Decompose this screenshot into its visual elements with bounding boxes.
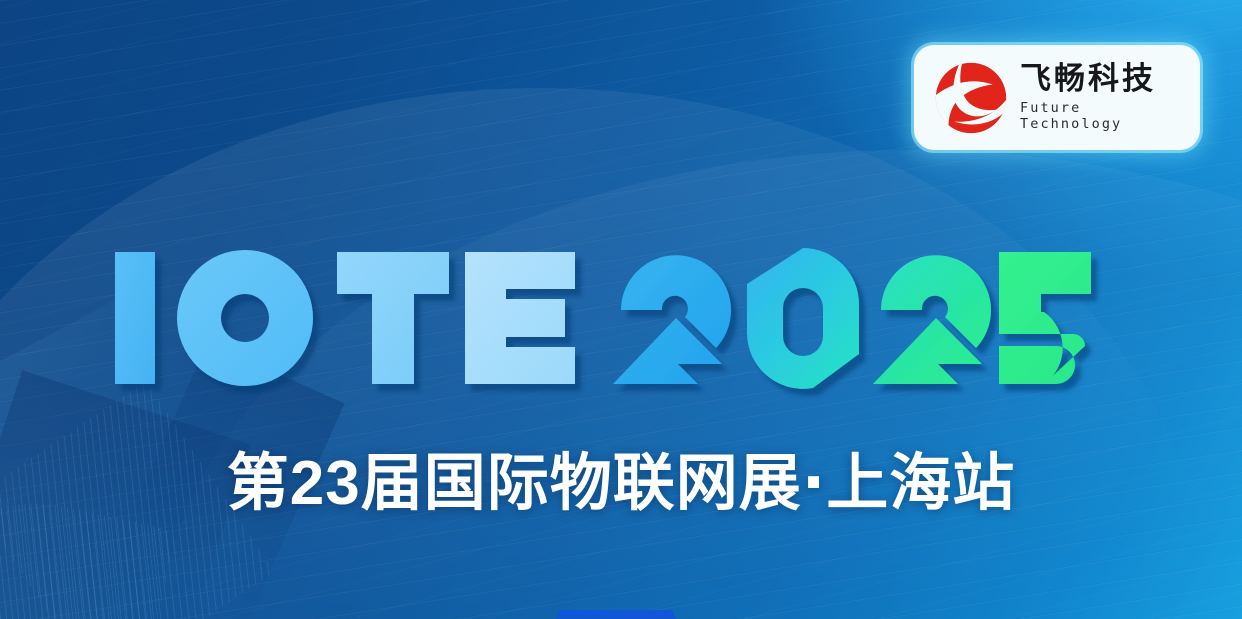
headline-prefix: 第: [227, 446, 290, 519]
iote-2025-wordmark-svg: [113, 236, 1093, 401]
sponsor-name-en: Future Technology: [1020, 100, 1186, 132]
event-headline: 第23届国际物联网展·上海站: [0, 452, 1242, 515]
bottom-accent-chip: [556, 610, 676, 619]
wordmark-digit-0: [747, 248, 859, 389]
feichang-swoosh-mark-icon: [928, 56, 1014, 140]
sponsor-name-cn: 飞畅科技: [1020, 63, 1186, 96]
wordmark-letter-E: [465, 252, 575, 384]
wordmark-digit-2b: [873, 255, 991, 384]
iote-2025-wordmark: [113, 236, 1093, 401]
wordmark-letter-T: [337, 252, 449, 384]
sponsor-logo-text: 飞畅科技 Future Technology: [1020, 63, 1186, 133]
wordmark-digit-2a: [613, 255, 731, 384]
headline-suffix: 届国际物联网展·上海站: [361, 446, 1016, 519]
wordmark-digit-5: [999, 252, 1091, 384]
wordmark-letter-O: [177, 250, 313, 386]
sponsor-logo-card[interactable]: 飞畅科技 Future Technology: [914, 45, 1200, 150]
wordmark-letter-I: [115, 252, 155, 384]
headline-edition-number: 23: [290, 449, 361, 518]
iote-2025-banner: 飞畅科技 Future Technology: [0, 0, 1242, 619]
